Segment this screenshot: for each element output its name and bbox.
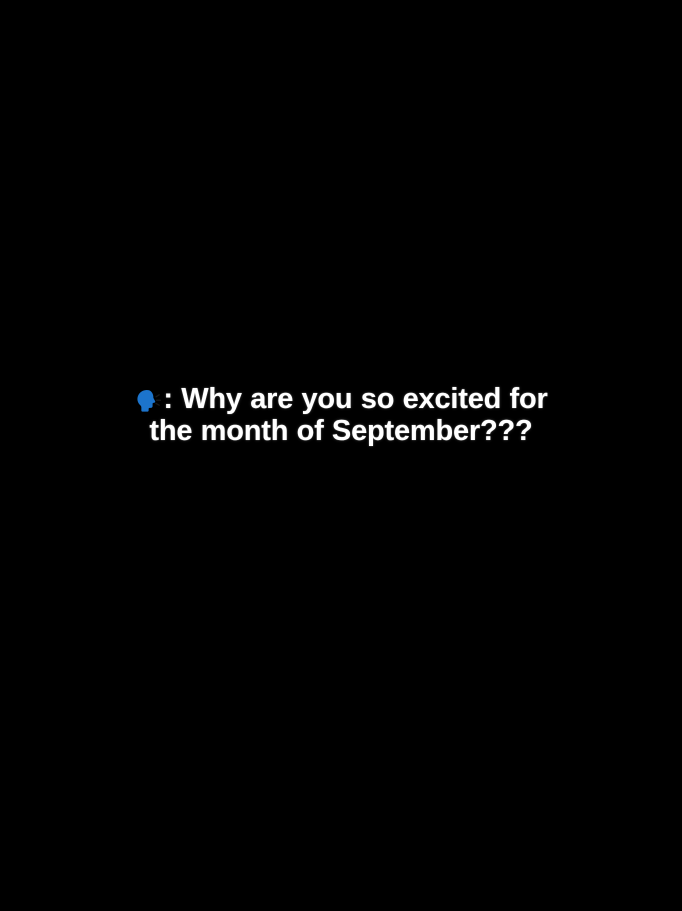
caption-line-2: the month of September???	[134, 415, 547, 447]
speaking-head-icon	[134, 387, 161, 414]
caption-line-1-text: : Why are you so excited for	[163, 383, 547, 415]
caption-line-1: : Why are you so excited for	[134, 383, 547, 415]
caption-overlay: : Why are you so excited for the month o…	[0, 383, 682, 447]
caption-text-block: : Why are you so excited for the month o…	[134, 383, 547, 447]
video-canvas: : Why are you so excited for the month o…	[0, 0, 682, 911]
